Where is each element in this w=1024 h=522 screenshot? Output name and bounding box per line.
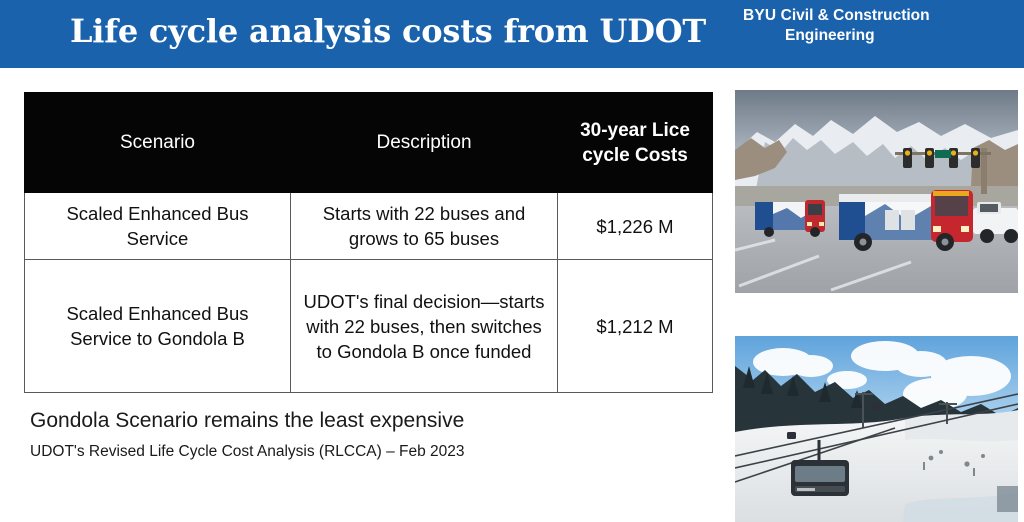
logo-line-two: Engineering	[743, 26, 1015, 46]
logo-byu-text: BYU	[743, 7, 776, 24]
photo-buses-at-intersection	[735, 90, 1018, 293]
byu-logo: BYU Civil & Construction Engineering	[743, 6, 1015, 46]
cell-cost: $1,226 M	[558, 193, 713, 260]
page-title: Life cycle analysis costs from UDOT	[70, 11, 710, 51]
cell-description: UDOT's final decision—starts with 22 bus…	[291, 260, 558, 393]
source-caption: UDOT's Revised Life Cycle Cost Analysis …	[30, 441, 465, 463]
slide-canvas: Life cycle analysis costs from UDOT BYU …	[0, 0, 1024, 522]
column-header-cost: 30-year Lice cycle Costs	[558, 93, 713, 193]
buses-photo-illustration	[735, 90, 1018, 293]
cell-description: Starts with 22 buses and grows to 65 bus…	[291, 193, 558, 260]
cell-cost: $1,212 M	[558, 260, 713, 393]
table-body: Scaled Enhanced Bus Service Starts with …	[25, 193, 713, 393]
column-header-scenario: Scenario	[25, 93, 291, 193]
cell-scenario: Scaled Enhanced Bus Service to Gondola B	[25, 260, 291, 393]
column-header-description: Description	[291, 93, 558, 193]
table-header: Scenario Description 30-year Lice cycle …	[25, 93, 713, 193]
logo-department-text: Civil & Construction	[781, 7, 930, 24]
life-cycle-cost-table: Scenario Description 30-year Lice cycle …	[24, 92, 713, 393]
photo-gondola-over-slope	[735, 336, 1018, 522]
gondola-photo-illustration	[735, 336, 1018, 522]
cell-scenario: Scaled Enhanced Bus Service	[25, 193, 291, 260]
table-header-row: Scenario Description 30-year Lice cycle …	[25, 93, 713, 193]
summary-caption: Gondola Scenario remains the least expen…	[30, 407, 464, 435]
table-row: Scaled Enhanced Bus Service to Gondola B…	[25, 260, 713, 393]
table-row: Scaled Enhanced Bus Service Starts with …	[25, 193, 713, 260]
logo-line-one: BYU Civil & Construction	[743, 6, 1015, 26]
